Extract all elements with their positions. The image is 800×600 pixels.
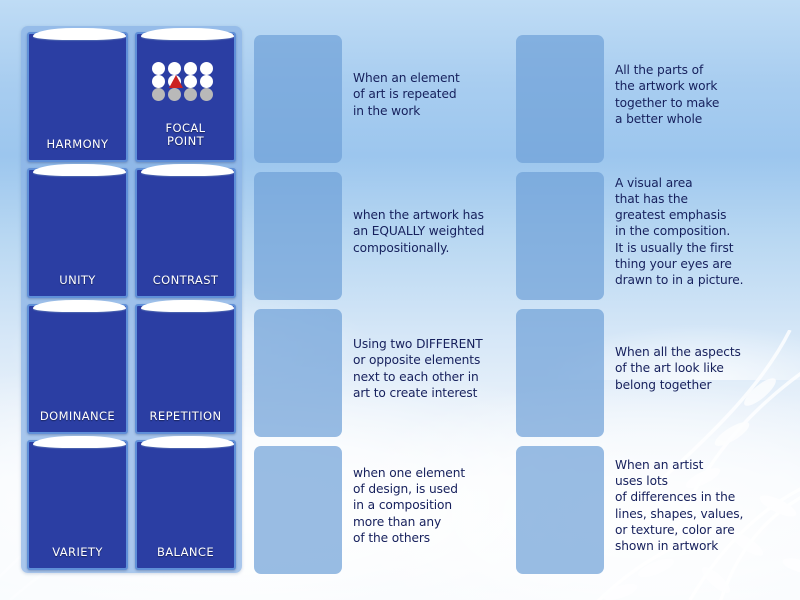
field-with-large-white-sphere-thumbnail <box>39 330 117 376</box>
term-card-focal-point[interactable]: FOCAL POINT <box>135 32 236 162</box>
term-card-dominance[interactable]: DOMINANCE <box>27 304 128 434</box>
definition-text: Using two DIFFERENT or opposite elements… <box>353 336 516 401</box>
term-card-repetition[interactable]: REPETITION <box>135 304 236 434</box>
definition-row: When an artist uses lots of differences … <box>516 437 778 574</box>
term-card-label: FOCAL POINT <box>166 122 206 148</box>
snow-cap-decor <box>141 436 234 448</box>
term-card-unity[interactable]: UNITY <box>27 168 128 298</box>
term-card-label: DOMINANCE <box>40 410 115 423</box>
term-card-label: BALANCE <box>157 546 214 559</box>
colorful-stained-glass-flowers-thumbnail <box>42 455 114 521</box>
term-card-label: UNITY <box>59 274 95 287</box>
snow-cap-decor <box>141 300 234 312</box>
dropzone-right-1[interactable] <box>516 35 604 163</box>
dropzone-left-2[interactable] <box>254 172 342 300</box>
definition-text: when one element of design, is used in a… <box>353 465 516 546</box>
term-card-label: HARMONY <box>47 138 109 151</box>
dropzone-right-3[interactable] <box>516 309 604 437</box>
dandelion-seed-head-thumbnail <box>150 319 222 385</box>
definition-row: A visual area that has the greatest emph… <box>516 163 778 300</box>
colorful-abstract-painting-thumbnail <box>42 47 114 113</box>
snow-cap-decor <box>141 164 234 176</box>
definition-row: When all the aspects of the art look lik… <box>516 300 778 437</box>
definition-row: All the parts of the artwork work togeth… <box>516 26 778 163</box>
dropzone-right-2[interactable] <box>516 172 604 300</box>
definition-text: When all the aspects of the art look lik… <box>615 344 778 393</box>
snow-cap-decor <box>33 164 126 176</box>
term-card-contrast[interactable]: CONTRAST <box>135 168 236 298</box>
snow-cap-decor <box>33 436 126 448</box>
definition-text: When an element of art is repeated in th… <box>353 70 516 119</box>
definition-text: A visual area that has the greatest emph… <box>615 175 778 289</box>
activity-stage: HARMONY FOCAL POINT UNITY <box>0 0 800 600</box>
dropzone-left-3[interactable] <box>254 309 342 437</box>
term-card-label: REPETITION <box>150 410 222 423</box>
blue-and-orange-flowers-thumbnail <box>150 183 222 249</box>
definition-row: Using two DIFFERENT or opposite elements… <box>254 300 516 437</box>
snow-cap-decor <box>141 28 234 40</box>
draggable-cards-panel: HARMONY FOCAL POINT UNITY <box>21 26 242 573</box>
definition-text: When an artist uses lots of differences … <box>615 457 778 554</box>
definition-text: when the artwork has an EQUALLY weighted… <box>353 207 516 256</box>
definition-row: When an element of art is repeated in th… <box>254 26 516 163</box>
definition-row: when one element of design, is used in a… <box>254 437 516 574</box>
term-card-balance[interactable]: BALANCE <box>135 440 236 570</box>
snow-cap-decor <box>33 28 126 40</box>
dropzone-left-1[interactable] <box>254 35 342 163</box>
painted-face-mosaic-thumbnail <box>42 183 114 249</box>
dropzone-left-4[interactable] <box>254 446 342 574</box>
snow-cap-decor <box>33 300 126 312</box>
definition-row: when the artwork has an EQUALLY weighted… <box>254 163 516 300</box>
definition-column-left: When an element of art is repeated in th… <box>254 26 516 574</box>
dropzone-right-4[interactable] <box>516 446 604 574</box>
balanced-stones-on-plank-thumbnail <box>147 466 225 512</box>
term-card-label: CONTRAST <box>153 274 219 287</box>
white-dots-with-red-triangle-thumbnail <box>147 58 225 104</box>
definition-column-right: All the parts of the artwork work togeth… <box>516 26 778 574</box>
card-grid: HARMONY FOCAL POINT UNITY <box>26 32 237 570</box>
term-card-variety[interactable]: VARIETY <box>27 440 128 570</box>
term-card-label: VARIETY <box>52 546 103 559</box>
definition-text: All the parts of the artwork work togeth… <box>615 62 778 127</box>
term-card-harmony[interactable]: HARMONY <box>27 32 128 162</box>
